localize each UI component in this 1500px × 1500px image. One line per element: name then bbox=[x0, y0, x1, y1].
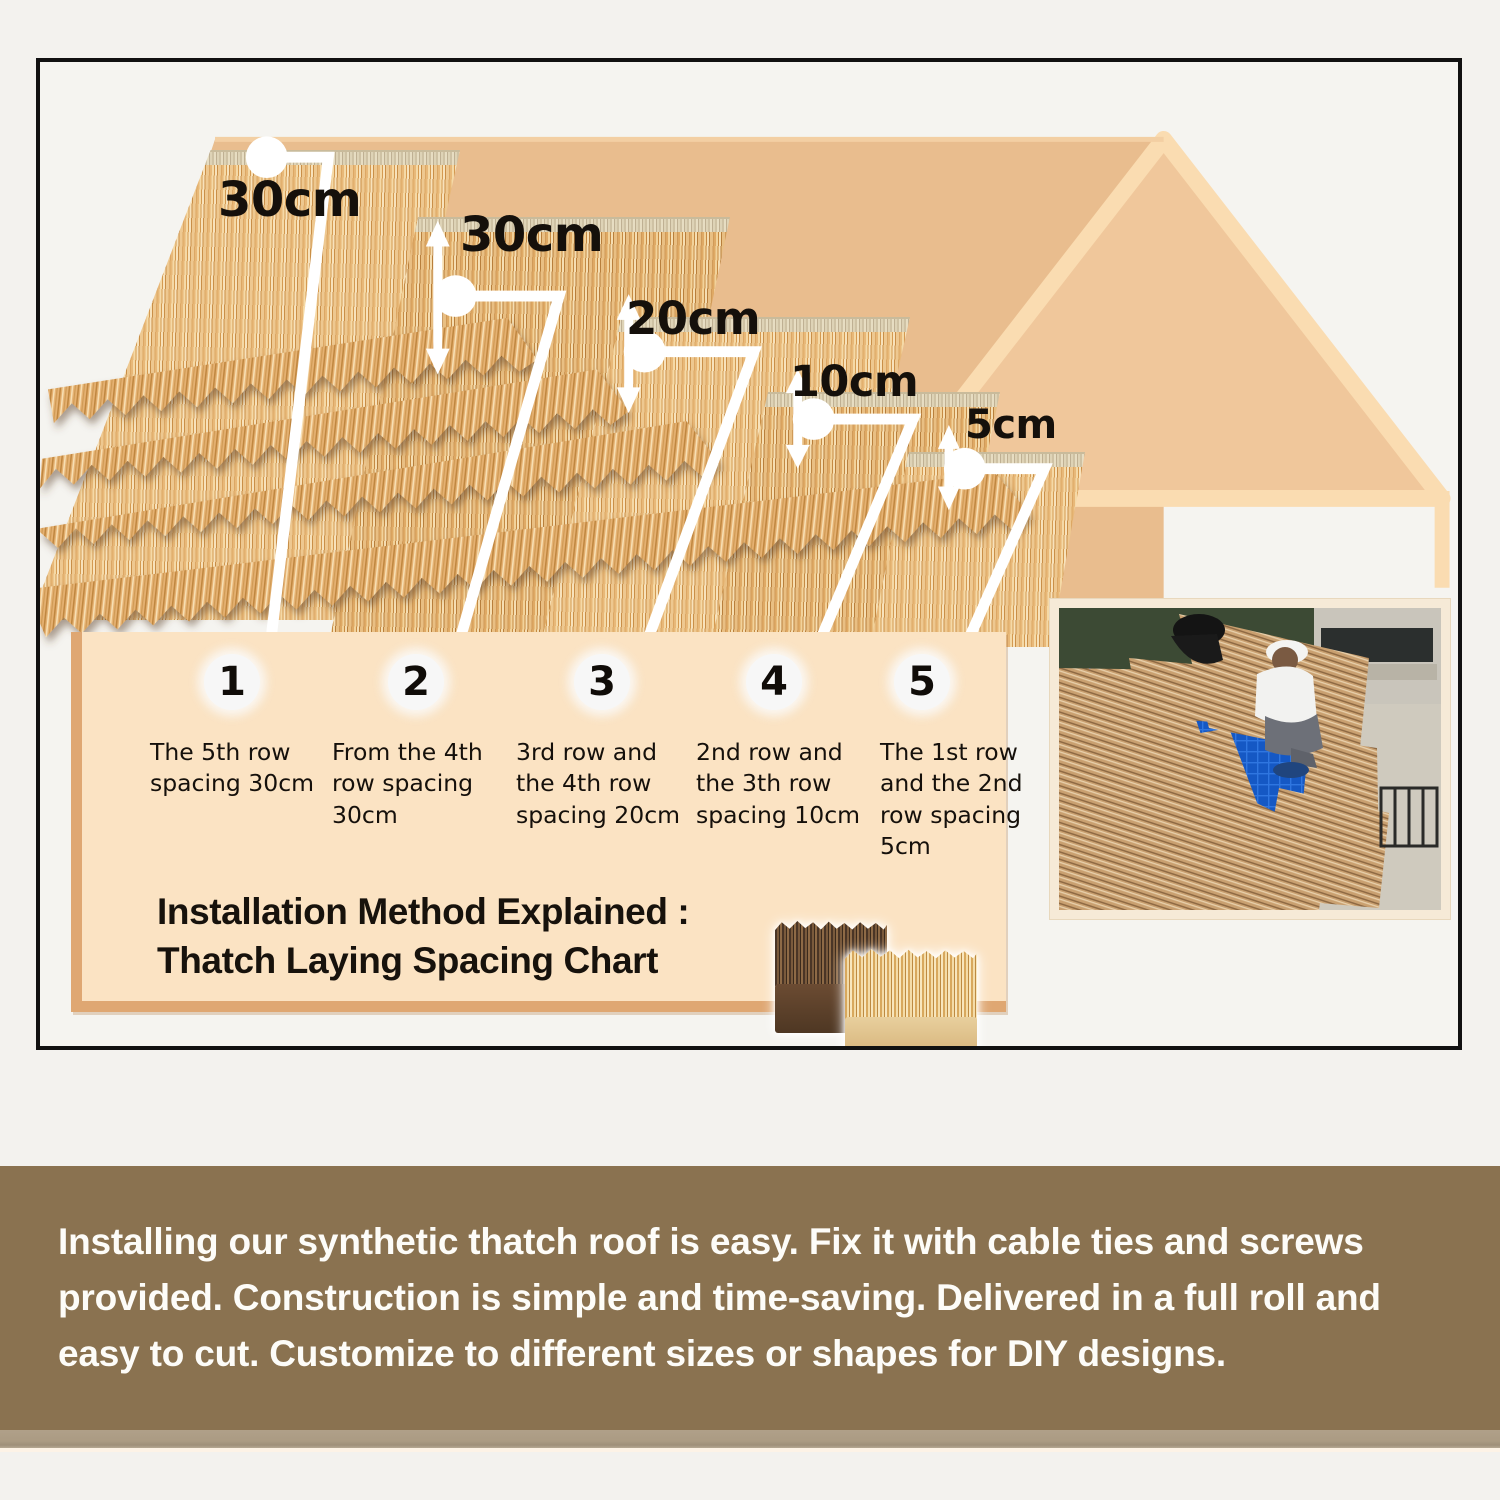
infographic-frame: 30cm 30cm 20cm 10cm 5cm 1 2 3 4 bbox=[36, 58, 1462, 1050]
step-marker-3: 3 bbox=[574, 654, 630, 710]
thatch-diagram: 30cm 30cm 20cm 10cm 5cm 1 2 3 4 bbox=[40, 62, 1458, 1046]
dimension-value: 5cm bbox=[965, 402, 1057, 448]
step-number: 5 bbox=[908, 662, 936, 702]
step-marker-5: 5 bbox=[894, 654, 950, 710]
product-bundle-icon bbox=[775, 917, 1015, 1046]
step-description-5: The 1st row and the 2nd row spacing 5cm bbox=[880, 737, 1048, 862]
bundle-tuft bbox=[845, 949, 977, 1020]
dimension-value: 10cm bbox=[790, 357, 918, 407]
page-title: Installation Method Explained : Thatch L… bbox=[157, 887, 797, 985]
banner-bottom-highlight bbox=[0, 1448, 1500, 1452]
banner-bottom-strip bbox=[0, 1430, 1500, 1450]
step-description-3: 3rd row and the 4th row spacing 20cm bbox=[516, 737, 684, 831]
step-marker-1: 1 bbox=[204, 654, 260, 710]
step-number: 3 bbox=[588, 662, 616, 702]
installation-photo-frame bbox=[1050, 599, 1450, 919]
step-marker-4: 4 bbox=[746, 654, 802, 710]
step-number: 1 bbox=[218, 662, 246, 702]
installation-photo-icon bbox=[1059, 608, 1441, 910]
dimension-value: 30cm bbox=[460, 207, 603, 263]
step-description-1: The 5th row spacing 30cm bbox=[150, 737, 318, 800]
dimension-value: 30cm bbox=[218, 172, 361, 228]
banner-description: Installing our synthetic thatch roof is … bbox=[58, 1214, 1448, 1383]
step-marker-2: 2 bbox=[388, 654, 444, 710]
thatch-bundle-light bbox=[845, 949, 977, 1046]
step-number: 4 bbox=[760, 662, 788, 702]
page-title-line1: Installation Method Explained : bbox=[157, 887, 797, 936]
page-title-line2: Thatch Laying Spacing Chart bbox=[157, 936, 797, 985]
bottom-banner: Installing our synthetic thatch roof is … bbox=[0, 1166, 1500, 1430]
bundle-base bbox=[845, 1017, 977, 1046]
step-number: 2 bbox=[402, 662, 430, 702]
step-description-2: From the 4th row spacing 30cm bbox=[332, 737, 500, 831]
step-description-4: 2nd row and the 3th row spacing 10cm bbox=[696, 737, 864, 831]
dimension-value: 20cm bbox=[626, 292, 760, 345]
